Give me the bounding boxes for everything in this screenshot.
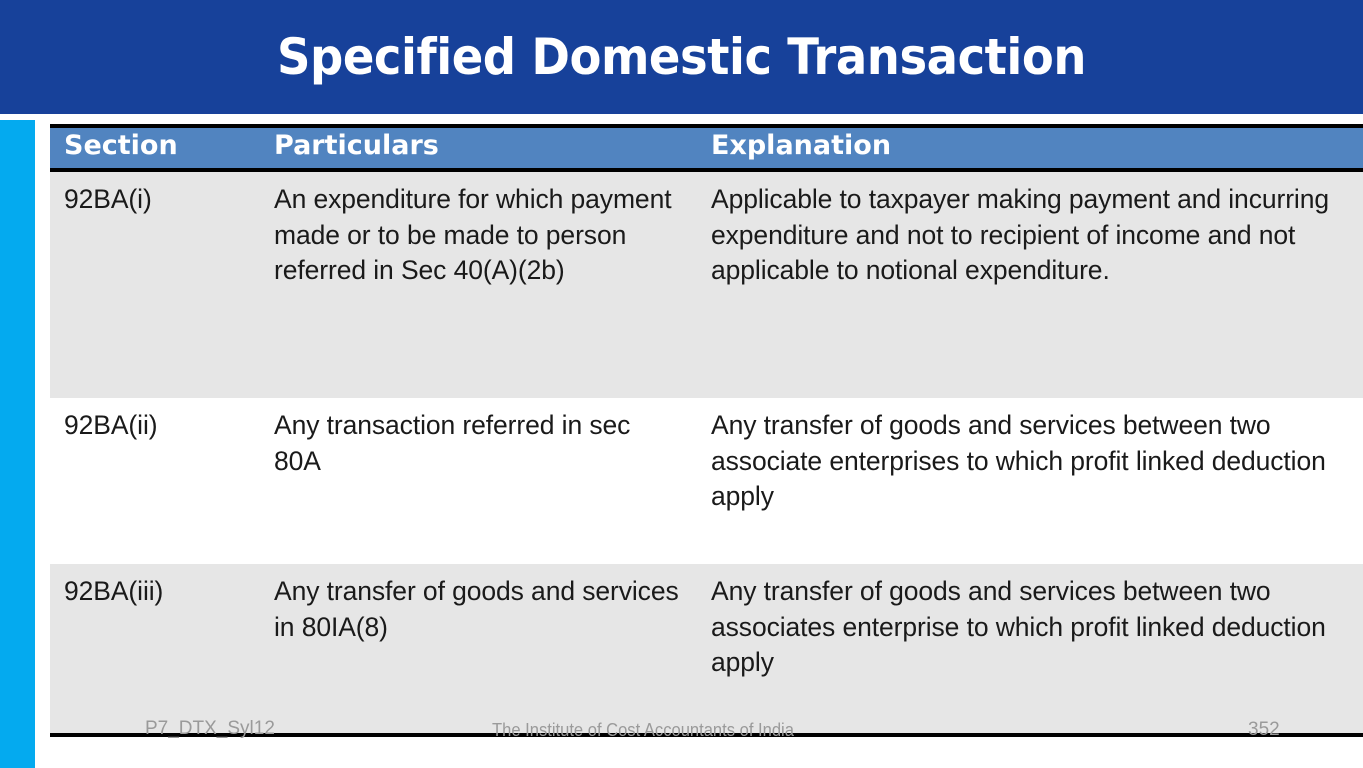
table-row: 92BA(iii) Any transfer of goods and serv… (50, 564, 1363, 735)
cell-particulars: Any transfer of goods and services in 80… (260, 564, 697, 735)
cell-particulars: Any transaction referred in sec 80A (260, 398, 697, 564)
table-row: 92BA(i) An expenditure for which payment… (50, 170, 1363, 398)
table-header-row: Section Particulars Explanation (50, 126, 1363, 170)
column-header-section: Section (50, 126, 260, 170)
slide-canvas: { "slide": { "title": "Specified Domesti… (0, 0, 1363, 768)
footer-institute-name: The Institute of Cost Accountants of Ind… (492, 720, 794, 741)
cell-section: 92BA(ii) (50, 398, 260, 564)
left-accent-bar (0, 120, 35, 768)
cell-explanation: Applicable to taxpayer making payment an… (697, 170, 1363, 398)
specified-domestic-transaction-table: Section Particulars Explanation 92BA(i) … (50, 124, 1363, 737)
content-table-wrapper: Section Particulars Explanation 92BA(i) … (50, 124, 1363, 737)
cell-section: 92BA(iii) (50, 564, 260, 735)
cell-explanation: Any transfer of goods and services betwe… (697, 398, 1363, 564)
table-row: 92BA(ii) Any transaction referred in sec… (50, 398, 1363, 564)
cell-section: 92BA(i) (50, 170, 260, 398)
slide-title: Specified Domestic Transaction (48, 0, 1316, 114)
footer-page-number: 352 (1248, 719, 1280, 741)
footer-course-code: P7_DTX_Syl12 (145, 718, 275, 740)
slide-footer: P7_DTX_Syl12 The Institute of Cost Accou… (0, 716, 1363, 750)
table-header: Section Particulars Explanation (50, 126, 1363, 170)
cell-explanation: Any transfer of goods and services betwe… (697, 564, 1363, 735)
column-header-particulars: Particulars (260, 126, 697, 170)
title-band: Specified Domestic Transaction (0, 0, 1363, 114)
cell-particulars: An expenditure for which payment made or… (260, 170, 697, 398)
table-body: 92BA(i) An expenditure for which payment… (50, 170, 1363, 735)
column-header-explanation: Explanation (697, 126, 1363, 170)
